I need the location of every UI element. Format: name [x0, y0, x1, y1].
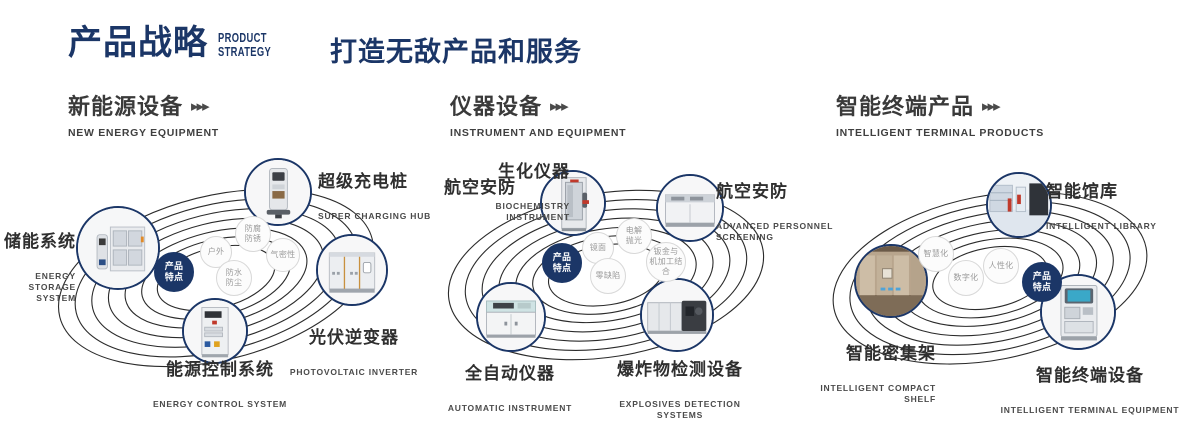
personnel-screening-icon	[658, 176, 722, 240]
label-automatic-instrument: 全自动仪器 AUTOMATIC INSTRUMENT	[430, 346, 590, 432]
section-heading-en: INSTRUMENT AND EQUIPMENT	[450, 127, 626, 139]
label-cn: 智能馆库	[1046, 182, 1186, 201]
section-heading-cn: 仪器设备▸▸▸	[450, 96, 626, 118]
node-energy-storage[interactable]	[76, 206, 160, 290]
label-en: ENERGY STORAGE SYSTEM	[0, 271, 76, 304]
label-energy-control-system: 能源控制系统 ENERGY CONTROL SYSTEM	[130, 342, 310, 428]
node-personnel-screening[interactable]	[656, 174, 724, 242]
feature-bubble-3[interactable]: 人性化	[983, 248, 1019, 284]
section-heading-cn-text: 智能终端产品	[836, 94, 974, 119]
feature-bubble-3[interactable]: 防水 防尘	[216, 260, 252, 296]
label-cn: 智能终端设备	[1000, 366, 1180, 385]
label-cn: 能源控制系统	[130, 360, 310, 379]
chevron-right-icon: ▸▸▸	[982, 99, 999, 114]
section-heading-en: NEW ENERGY EQUIPMENT	[68, 127, 219, 139]
section-heading-cn-text: 仪器设备	[450, 94, 542, 119]
feature-bubble-4[interactable]: 钣金与 机加工结合	[646, 242, 686, 282]
feature-bubble-2[interactable]: 防腐 防锈	[235, 216, 271, 252]
label-terminal-equipment: 智能终端设备 INTELLIGENT TERMINAL EQUIPMENT	[1000, 348, 1180, 434]
feature-core-bubble[interactable]: 产品 特点	[542, 243, 582, 283]
node-compact-shelf[interactable]	[854, 244, 928, 318]
feature-bubble-4[interactable]: 气密性	[266, 238, 300, 272]
section-heading-intelligent: 智能终端产品▸▸▸ INTELLIGENT TERMINAL PRODUCTS	[836, 96, 1044, 139]
label-explosives-detection: 爆炸物检测设备 EXPLOSIVES DETECTION SYSTEMS	[600, 342, 760, 439]
label-cn: 智能密集架	[776, 344, 936, 363]
chevron-right-icon: ▸▸▸	[550, 99, 567, 114]
label-cn: 储能系统	[0, 232, 76, 251]
compact-shelf-icon	[856, 246, 926, 316]
node-photovoltaic-inverter[interactable]	[316, 234, 388, 306]
section-heading-cn: 新能源设备▸▸▸	[68, 96, 219, 118]
label-en: INTELLIGENT TERMINAL EQUIPMENT	[1000, 405, 1180, 416]
page-header: 产品战略 PRODUCT STRATEGY 打造无敌产品和服务	[0, 0, 1200, 88]
explosives-detection-icon	[642, 280, 712, 350]
section-heading-instrument: 仪器设备▸▸▸ INSTRUMENT AND EQUIPMENT	[450, 96, 626, 139]
feature-core-bubble[interactable]: 产品 特点	[154, 252, 194, 292]
feature-core-bubble[interactable]: 产品 特点	[1022, 262, 1062, 302]
diagram-intelligent-terminal: 智能馆库 INTELLIGENT LIBRARY 智能密集架 INTELLIGE…	[800, 150, 1200, 400]
label-en: EXPLOSIVES DETECTION SYSTEMS	[600, 399, 760, 421]
label-en: INTELLIGENT COMPACT SHELF	[776, 383, 936, 405]
node-intelligent-library[interactable]	[986, 172, 1052, 238]
label-en: ENERGY CONTROL SYSTEM	[130, 399, 310, 410]
charging-pile-icon	[246, 160, 310, 224]
chevron-right-icon: ▸▸▸	[191, 99, 208, 114]
label-en: AUTOMATIC INSTRUMENT	[430, 403, 590, 414]
feature-bubble-1[interactable]: 智慧化	[918, 236, 954, 272]
label-intelligent-library: 智能馆库 INTELLIGENT LIBRARY	[1046, 164, 1186, 250]
label-en: INTELLIGENT LIBRARY	[1046, 221, 1186, 232]
node-explosives-detection[interactable]	[640, 278, 714, 352]
node-automatic-instrument[interactable]	[476, 282, 546, 352]
energy-storage-cabinet-icon	[78, 208, 158, 288]
label-cn: 爆炸物检测设备	[600, 360, 760, 379]
section-heading-cn-text: 新能源设备	[68, 94, 183, 119]
diagram-instrument: 航空安防 生化仪器 BIOCHEMISTRY INSTRUMENT 航空安防 A…	[410, 150, 810, 400]
label-cn: 生化仪器	[440, 162, 570, 181]
page-title-english: PRODUCT STRATEGY	[218, 31, 271, 59]
automatic-instrument-icon	[478, 284, 544, 350]
section-heading-en: INTELLIGENT TERMINAL PRODUCTS	[836, 127, 1044, 139]
label-biochemistry-instrument: 生化仪器 BIOCHEMISTRY INSTRUMENT	[440, 144, 570, 241]
feature-bubble-2[interactable]: 数字化	[948, 260, 984, 296]
label-en: BIOCHEMISTRY INSTRUMENT	[440, 201, 570, 223]
intelligent-library-icon	[988, 174, 1050, 236]
label-cn: 全自动仪器	[430, 364, 590, 383]
photovoltaic-inverter-icon	[318, 236, 386, 304]
page-slogan: 打造无敌产品和服务	[330, 39, 582, 66]
section-heading-cn: 智能终端产品▸▸▸	[836, 96, 1044, 118]
label-compact-shelf: 智能密集架 INTELLIGENT COMPACT SHELF	[776, 326, 936, 423]
diagram-new-energy: 储能系统 ENERGY STORAGE SYSTEM 超级充电桩 SUPER C…	[20, 150, 420, 400]
label-energy-storage: 储能系统 ENERGY STORAGE SYSTEM	[0, 214, 76, 322]
feature-bubble-3[interactable]: 零缺陷	[590, 258, 626, 294]
page-title: 产品战略	[68, 26, 208, 60]
section-heading-new-energy: 新能源设备▸▸▸ NEW ENERGY EQUIPMENT	[68, 96, 219, 139]
